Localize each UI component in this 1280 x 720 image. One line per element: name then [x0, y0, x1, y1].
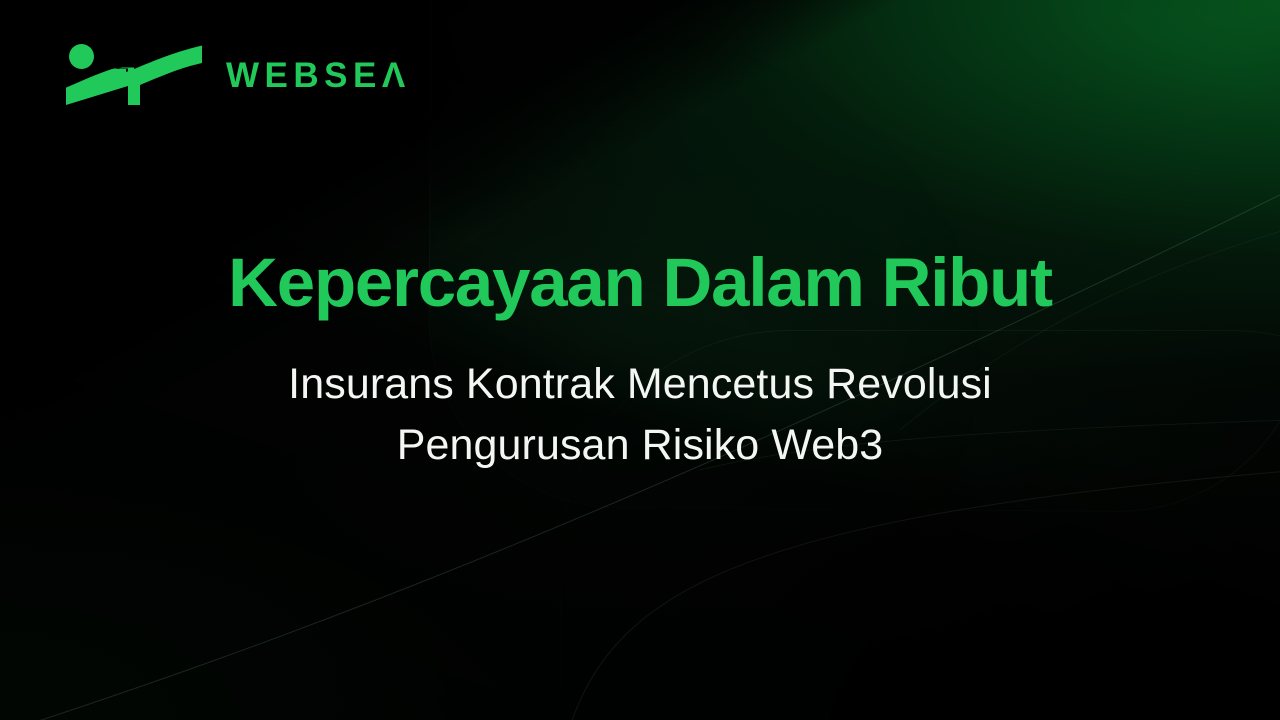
slide-content: Kepercayaan Dalam Ribut Insurans Kontrak… — [0, 246, 1280, 476]
websea-wave-mark-icon — [64, 44, 204, 106]
subtitle-line-2: Pengurusan Risiko Web3 — [0, 415, 1280, 476]
wordmark-lambda-glyph: Λ — [382, 58, 411, 93]
brand-wordmark: WEBSEΛ — [226, 58, 411, 93]
brand-logo[interactable]: WEBSEΛ — [64, 44, 411, 106]
title-slide: WEBSEΛ Kepercayaan Dalam Ribut Insurans … — [0, 0, 1280, 720]
page-title: Kepercayaan Dalam Ribut — [0, 246, 1280, 319]
page-subtitle: Insurans Kontrak Mencetus Revolusi Pengu… — [0, 354, 1280, 476]
subtitle-line-1: Insurans Kontrak Mencetus Revolusi — [0, 354, 1280, 415]
wordmark-text: WEBSE — [226, 58, 382, 93]
